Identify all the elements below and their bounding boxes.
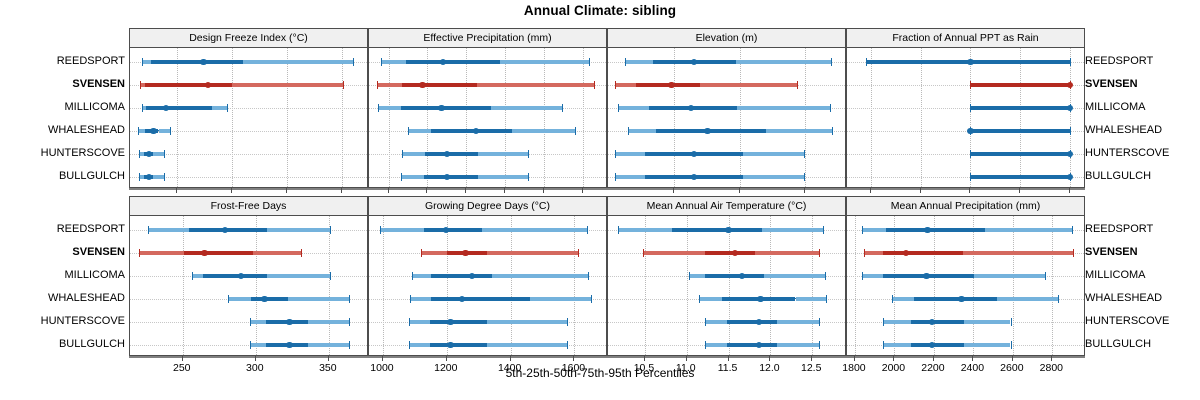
- whisker-cap: [819, 249, 820, 257]
- whisker-segment: [985, 228, 1072, 232]
- whisker-cap: [343, 81, 344, 89]
- whisker-segment: [512, 129, 575, 133]
- whisker-cap: [804, 150, 805, 158]
- whisker-cap: [381, 58, 382, 66]
- whisker-cap: [1011, 341, 1012, 349]
- median-point: [205, 82, 211, 88]
- whisker-cap: [819, 318, 820, 326]
- whisker-cap: [892, 295, 893, 303]
- whisker-cap: [1070, 127, 1071, 135]
- chart-page: Annual Climate: sibling REEDSPORTSVENSEN…: [0, 0, 1200, 400]
- axis-tick: [465, 188, 466, 193]
- median-point: [1067, 82, 1073, 88]
- axis-tick: [328, 356, 329, 361]
- whisker-cap: [628, 127, 629, 135]
- whisker-segment: [159, 129, 171, 133]
- whisker-segment: [777, 343, 819, 347]
- panel-design-freeze-index-c: Design Freeze Index (°C): [129, 28, 368, 188]
- whisker-segment: [864, 251, 882, 255]
- median-point: [150, 128, 156, 134]
- site-labels-left-bottom: REEDSPORTSVENSENMILLICOMAWHALESHEADHUNTE…: [10, 196, 125, 356]
- median-point: [146, 151, 152, 157]
- axis-tick: [573, 356, 574, 361]
- axis-line: [368, 356, 607, 358]
- whisker-cap: [575, 127, 576, 135]
- whisker-cap: [1072, 226, 1073, 234]
- whisker-segment: [189, 228, 268, 232]
- whisker-cap: [164, 150, 165, 158]
- median-point: [903, 250, 909, 256]
- whisker-segment: [700, 83, 797, 87]
- gridline-vertical: [855, 216, 856, 355]
- whisker-segment: [974, 274, 1045, 278]
- axis-tick: [341, 188, 342, 193]
- site-label-millicoma: MILLICOMA: [1085, 267, 1197, 283]
- median-point: [419, 82, 425, 88]
- panels-bottom: Frost-Free DaysGrowing Degree Days (°C)M…: [129, 196, 1085, 356]
- whisker-segment: [478, 152, 528, 156]
- site-label-whaleshead: WHALESHEAD: [1085, 290, 1197, 306]
- median-point: [447, 319, 453, 325]
- whisker-cap: [528, 150, 529, 158]
- whisker-cap: [970, 104, 971, 112]
- median-point: [691, 59, 697, 65]
- gridline-vertical: [1070, 48, 1071, 187]
- site-label-bullgulch: BULLGULCH: [1085, 336, 1197, 352]
- gridline-vertical: [183, 216, 184, 355]
- whisker-segment: [705, 320, 727, 324]
- whisker-cap: [591, 295, 592, 303]
- whisker-segment: [153, 175, 164, 179]
- panel-strip-label: Mean Annual Air Temperature (°C): [608, 197, 845, 216]
- whisker-cap: [139, 249, 140, 257]
- whisker-cap: [625, 58, 626, 66]
- site-label-bullgulch: BULLGULCH: [10, 336, 125, 352]
- axis-tick: [870, 188, 871, 193]
- gridline-vertical: [674, 48, 675, 187]
- whisker-segment: [705, 251, 755, 255]
- panel-row-bottom: REEDSPORTSVENSENMILLICOMAWHALESHEADHUNTE…: [0, 196, 1200, 356]
- whisker-segment: [491, 106, 562, 110]
- whisker-cap: [866, 58, 867, 66]
- whisker-segment: [883, 251, 963, 255]
- whisker-segment: [406, 60, 500, 64]
- site-label-reedsport: REEDSPORT: [1085, 221, 1197, 237]
- site-label-hunterscove: HUNTERSCOVE: [1085, 313, 1197, 329]
- whisker-segment: [492, 274, 588, 278]
- axis-tick: [510, 356, 511, 361]
- whisker-segment: [412, 274, 431, 278]
- gridline-vertical: [466, 48, 467, 187]
- axis-line: [607, 356, 846, 358]
- gridline-vertical: [729, 216, 730, 355]
- whisker-cap: [830, 104, 831, 112]
- whisker-segment: [727, 320, 777, 324]
- whisker-cap: [883, 341, 884, 349]
- panel-effective-precipitation-mm: Effective Precipitation (mm): [368, 28, 607, 188]
- whisker-segment: [487, 320, 568, 324]
- gridline-vertical: [511, 216, 512, 355]
- whisker-segment: [628, 129, 656, 133]
- whisker-segment: [911, 343, 963, 347]
- panel-plot-area: [608, 216, 845, 355]
- whisker-segment: [421, 251, 447, 255]
- whisker-segment: [308, 343, 349, 347]
- whisker-cap: [562, 104, 563, 112]
- whisker-cap: [410, 295, 411, 303]
- whisker-segment: [755, 251, 819, 255]
- whisker-cap: [643, 249, 644, 257]
- whisker-cap: [349, 295, 350, 303]
- axis-tick: [893, 356, 894, 361]
- whisker-cap: [618, 104, 619, 112]
- median-point: [459, 296, 465, 302]
- whisker-segment: [142, 60, 151, 64]
- whisker-segment: [148, 228, 189, 232]
- median-point: [261, 296, 267, 302]
- whisker-segment: [308, 320, 349, 324]
- whisker-segment: [409, 320, 430, 324]
- whisker-cap: [618, 226, 619, 234]
- site-label-svensen: SVENSEN: [1085, 244, 1197, 260]
- whisker-cap: [831, 58, 832, 66]
- median-point: [222, 227, 228, 233]
- gridline-vertical: [1020, 48, 1021, 187]
- median-point: [444, 174, 450, 180]
- panel-plot-area: [130, 216, 367, 355]
- axis-tick: [543, 188, 544, 193]
- whisker-cap: [409, 318, 410, 326]
- whisker-segment: [911, 320, 963, 324]
- whisker-segment: [267, 228, 330, 232]
- gridline-vertical: [342, 48, 343, 187]
- whisker-cap: [1073, 249, 1074, 257]
- median-point: [691, 151, 697, 157]
- median-point: [757, 296, 763, 302]
- axis-tick: [686, 356, 687, 361]
- whisker-segment: [146, 106, 212, 110]
- panel-strip-label: Fraction of Annual PPT as Rain: [847, 29, 1084, 48]
- axis-tick: [811, 356, 812, 361]
- axis-tick: [231, 188, 232, 193]
- whisker-segment: [963, 251, 1074, 255]
- whisker-segment: [970, 106, 1070, 110]
- whisker-segment: [615, 152, 646, 156]
- gridline-vertical: [645, 216, 646, 355]
- whisker-cap: [578, 249, 579, 257]
- panel-plot-area: [369, 48, 606, 187]
- axis-tick: [388, 188, 389, 193]
- axis-caption: 5th-25th-50th-75th-95th Percentiles: [0, 366, 1200, 380]
- whisker-segment: [970, 175, 1070, 179]
- whisker-cap: [862, 272, 863, 280]
- whisker-segment: [530, 297, 591, 301]
- whisker-cap: [832, 127, 833, 135]
- whisker-segment: [378, 106, 401, 110]
- gridline-vertical: [934, 216, 935, 355]
- gridline-vertical: [389, 48, 390, 187]
- whisker-segment: [408, 129, 431, 133]
- whisker-segment: [145, 83, 232, 87]
- gridline-vertical: [770, 216, 771, 355]
- whisker-segment: [964, 343, 1011, 347]
- site-label-hunterscove: HUNTERSCOVE: [1085, 145, 1197, 161]
- gridline-vertical: [447, 216, 448, 355]
- site-labels-left-top: REEDSPORTSVENSENMILLICOMAWHALESHEADHUNTE…: [10, 28, 125, 188]
- panel-strip-label: Mean Annual Precipitation (mm): [847, 197, 1084, 216]
- median-point: [923, 273, 929, 279]
- site-label-svensen: SVENSEN: [10, 76, 125, 92]
- whisker-segment: [883, 320, 912, 324]
- gridline-vertical: [256, 216, 257, 355]
- axis-tick: [255, 356, 256, 361]
- whisker-segment: [705, 343, 727, 347]
- gridline-vertical: [427, 48, 428, 187]
- axis-tick: [1069, 188, 1070, 193]
- median-point: [704, 128, 710, 134]
- whisker-cap: [594, 81, 595, 89]
- median-point: [469, 273, 475, 279]
- whisker-cap: [528, 173, 529, 181]
- axis-tick: [286, 188, 287, 193]
- median-point: [163, 105, 169, 111]
- whisker-segment: [672, 228, 762, 232]
- site-label-millicoma: MILLICOMA: [1085, 99, 1197, 115]
- gridline-vertical: [583, 48, 584, 187]
- page-title: Annual Climate: sibling: [0, 3, 1200, 18]
- whisker-segment: [153, 152, 164, 156]
- panel-fraction-of-annual-ppt-as-rain: Fraction of Annual PPT as Rain: [846, 28, 1085, 188]
- site-label-hunterscove: HUNTERSCOVE: [10, 145, 125, 161]
- gridline-horizontal: [130, 177, 367, 178]
- median-point: [958, 296, 964, 302]
- whisker-segment: [477, 83, 594, 87]
- whisker-cap: [353, 58, 354, 66]
- gridline-vertical: [687, 216, 688, 355]
- whisker-segment: [151, 60, 243, 64]
- whisker-cap: [589, 58, 590, 66]
- median-point: [691, 174, 697, 180]
- whisker-cap: [421, 249, 422, 257]
- whisker-segment: [743, 175, 804, 179]
- whisker-segment: [250, 320, 266, 324]
- site-label-bullgulch: BULLGULCH: [1085, 168, 1197, 184]
- whisker-cap: [380, 226, 381, 234]
- whisker-cap: [615, 81, 616, 89]
- median-point: [238, 273, 244, 279]
- gridline-vertical: [177, 48, 178, 187]
- whisker-segment: [380, 228, 423, 232]
- gridline-vertical: [740, 48, 741, 187]
- median-point: [444, 151, 450, 157]
- whisker-segment: [267, 274, 330, 278]
- whisker-segment: [401, 175, 425, 179]
- whisker-segment: [431, 129, 511, 133]
- site-label-whaleshead: WHALESHEAD: [1085, 122, 1197, 138]
- axis-line: [607, 188, 846, 190]
- gridline-vertical: [383, 216, 384, 355]
- whisker-segment: [424, 175, 477, 179]
- panels-top: Design Freeze Index (°C)Effective Precip…: [129, 28, 1085, 188]
- site-labels-right-bottom: REEDSPORTSVENSENMILLICOMAWHALESHEADHUNTE…: [1085, 196, 1197, 356]
- whisker-segment: [970, 152, 1070, 156]
- axis-line: [846, 356, 1085, 358]
- whisker-segment: [615, 175, 646, 179]
- whisker-cap: [826, 295, 827, 303]
- median-point: [739, 273, 745, 279]
- axis-tick: [920, 188, 921, 193]
- axis-line: [129, 356, 368, 358]
- whisker-cap: [615, 150, 616, 158]
- whisker-segment: [964, 320, 1011, 324]
- whisker-cap: [864, 249, 865, 257]
- whisker-segment: [424, 228, 482, 232]
- gridline-vertical: [970, 48, 971, 187]
- median-point: [201, 250, 207, 256]
- axis-tick: [176, 188, 177, 193]
- whisker-segment: [997, 297, 1058, 301]
- whisker-segment: [777, 320, 819, 324]
- median-point: [688, 105, 694, 111]
- whisker-segment: [736, 60, 831, 64]
- whisker-segment: [430, 320, 486, 324]
- axis-tick: [804, 188, 805, 193]
- whisker-cap: [378, 104, 379, 112]
- whisker-segment: [409, 343, 430, 347]
- site-label-reedsport: REEDSPORT: [10, 53, 125, 69]
- gridline-vertical: [805, 48, 806, 187]
- median-point: [286, 319, 292, 325]
- median-point: [440, 59, 446, 65]
- whisker-segment: [762, 228, 823, 232]
- median-point: [967, 128, 973, 134]
- whisker-segment: [615, 83, 636, 87]
- gridline-vertical: [287, 48, 288, 187]
- whisker-cap: [705, 341, 706, 349]
- whisker-segment: [892, 297, 914, 301]
- panel-strip-label: Elevation (m): [608, 29, 845, 48]
- whisker-cap: [412, 272, 413, 280]
- whisker-segment: [625, 60, 652, 64]
- whisker-cap: [970, 81, 971, 89]
- whisker-segment: [862, 274, 882, 278]
- median-point: [668, 82, 674, 88]
- whisker-segment: [138, 129, 145, 133]
- gridline-vertical: [574, 216, 575, 355]
- whisker-cap: [250, 318, 251, 326]
- axis-tick: [728, 356, 729, 361]
- panel-frost-free-days: Frost-Free Days: [129, 196, 368, 356]
- panel-plot-area: [369, 216, 606, 355]
- whisker-cap: [142, 104, 143, 112]
- gridline-vertical: [1052, 216, 1053, 355]
- whisker-cap: [401, 173, 402, 181]
- whisker-cap: [301, 249, 302, 257]
- whisker-cap: [227, 104, 228, 112]
- whisker-cap: [567, 341, 568, 349]
- gridline-horizontal: [130, 154, 367, 155]
- whisker-segment: [212, 106, 227, 110]
- whisker-cap: [349, 318, 350, 326]
- gridline-vertical: [329, 216, 330, 355]
- median-point: [200, 59, 206, 65]
- whisker-segment: [410, 297, 431, 301]
- gridline-vertical: [894, 216, 895, 355]
- whisker-segment: [431, 274, 492, 278]
- gridline-vertical: [1013, 216, 1014, 355]
- whisker-cap: [250, 341, 251, 349]
- gridline-vertical: [232, 48, 233, 187]
- whisker-cap: [970, 150, 971, 158]
- whisker-segment: [401, 106, 491, 110]
- whisker-cap: [615, 173, 616, 181]
- whisker-cap: [142, 58, 143, 66]
- panel-plot-area: [847, 216, 1084, 355]
- panel-mean-annual-precipitation-mm: Mean Annual Precipitation (mm): [846, 196, 1085, 356]
- whisker-segment: [914, 297, 997, 301]
- whisker-cap: [804, 173, 805, 181]
- whisker-cap: [1058, 295, 1059, 303]
- axis-tick: [446, 356, 447, 361]
- panel-strip-label: Design Freeze Index (°C): [130, 29, 367, 48]
- whisker-cap: [138, 127, 139, 135]
- whisker-segment: [482, 228, 587, 232]
- whisker-segment: [764, 274, 825, 278]
- whisker-cap: [1011, 318, 1012, 326]
- whisker-segment: [656, 129, 766, 133]
- gridline-vertical: [921, 48, 922, 187]
- whisker-cap: [797, 81, 798, 89]
- whisker-segment: [970, 83, 1070, 87]
- panel-strip-label: Growing Degree Days (°C): [369, 197, 606, 216]
- panel-mean-annual-air-temperature-c: Mean Annual Air Temperature (°C): [607, 196, 846, 356]
- axis-tick: [854, 356, 855, 361]
- whisker-segment: [618, 106, 649, 110]
- median-point: [473, 128, 479, 134]
- whisker-cap: [148, 226, 149, 234]
- median-point: [725, 227, 731, 233]
- whisker-cap: [139, 173, 140, 181]
- panel-plot-area: [608, 48, 845, 187]
- whisker-cap: [170, 127, 171, 135]
- median-point: [447, 342, 453, 348]
- median-point: [732, 250, 738, 256]
- whisker-segment: [970, 129, 1070, 133]
- axis-tick: [426, 188, 427, 193]
- median-point: [967, 59, 973, 65]
- median-point: [146, 174, 152, 180]
- site-label-whaleshead: WHALESHEAD: [10, 122, 125, 138]
- panel-plot-area: [130, 48, 367, 187]
- gridline-vertical: [871, 48, 872, 187]
- whisker-segment: [883, 343, 912, 347]
- whisker-segment: [425, 152, 477, 156]
- whisker-cap: [825, 272, 826, 280]
- whisker-cap: [377, 81, 378, 89]
- whisker-cap: [567, 318, 568, 326]
- axis-tick: [382, 356, 383, 361]
- whisker-segment: [288, 297, 349, 301]
- panel-strip-label: Effective Precipitation (mm): [369, 29, 606, 48]
- axis-tick: [1051, 356, 1052, 361]
- whisker-segment: [727, 343, 777, 347]
- whisker-segment: [253, 251, 301, 255]
- whisker-cap: [970, 173, 971, 181]
- whisker-segment: [705, 274, 764, 278]
- panel-growing-degree-days-c: Growing Degree Days (°C): [368, 196, 607, 356]
- median-point: [1067, 105, 1073, 111]
- whisker-segment: [402, 152, 426, 156]
